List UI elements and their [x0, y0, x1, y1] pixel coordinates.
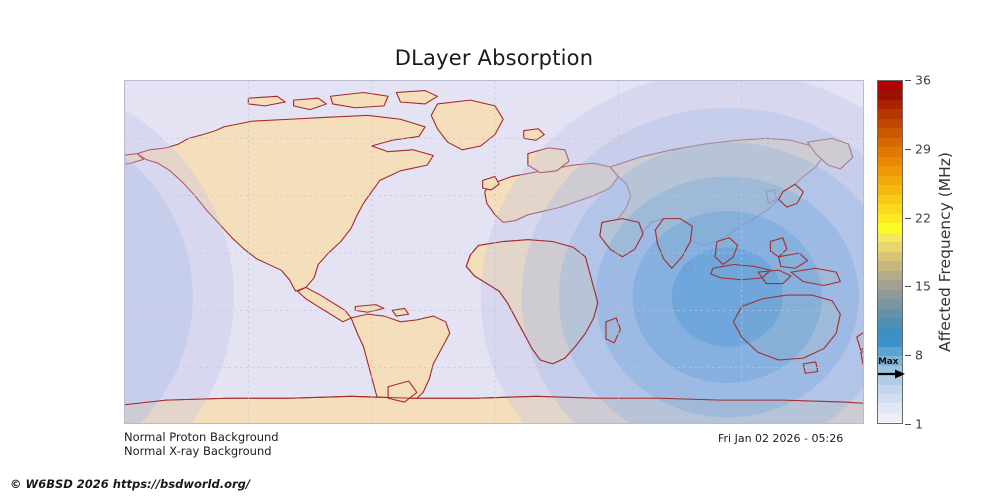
colorbar-band — [878, 214, 902, 223]
world-map-plot[interactable] — [124, 80, 864, 424]
colorbar-tick-label: 8 — [915, 348, 923, 363]
colorbar-band — [878, 119, 902, 128]
colorbar-band — [878, 233, 902, 242]
colorbar-tick-mark — [905, 218, 911, 219]
colorbar-band — [878, 166, 902, 175]
colorbar-band — [878, 176, 902, 185]
colorbar-tick-mark — [905, 424, 911, 425]
colorbar-band — [878, 290, 902, 299]
colorbar-band — [878, 261, 902, 270]
proton-background-note: Normal Proton Background — [124, 430, 279, 444]
colorbar-band — [878, 128, 902, 137]
colorbar-band — [878, 347, 902, 356]
colorbar-band — [878, 280, 902, 289]
colorbar-band — [878, 81, 902, 90]
colorbar-axis-label-text: Affected Frequency (MHz) — [936, 152, 954, 352]
colorbar-band — [878, 366, 902, 375]
copyright-notice: © W6BSD 2026 https://bsdworld.org/ — [10, 477, 250, 491]
colorbar-band — [878, 375, 902, 384]
colorbar-tick-label: 22 — [915, 210, 931, 225]
colorbar-band — [878, 328, 902, 337]
colorbar-band — [878, 185, 902, 194]
colorbar-band — [878, 337, 902, 346]
colorbar-band — [878, 413, 902, 422]
colorbar-tick-mark — [905, 80, 911, 81]
colorbar-band — [878, 138, 902, 147]
xray-background-note: Normal X-ray Background — [124, 444, 272, 458]
world-map-svg — [125, 81, 864, 424]
page-title: DLayer Absorption — [124, 46, 864, 70]
colorbar-tick-mark — [905, 286, 911, 287]
colorbar-band — [878, 90, 902, 99]
colorbar[interactable] — [877, 80, 903, 424]
colorbar-band — [878, 157, 902, 166]
colorbar-band — [878, 204, 902, 213]
figure-canvas: DLayer Absorption — [0, 0, 1000, 500]
colorbar-gradient — [878, 81, 902, 423]
colorbar-band — [878, 403, 902, 412]
colorbar-band — [878, 223, 902, 232]
colorbar-tick-label: 36 — [915, 73, 931, 88]
colorbar-band — [878, 147, 902, 156]
colorbar-band — [878, 252, 902, 261]
colorbar-axis-label: Affected Frequency (MHz) — [930, 80, 960, 424]
colorbar-tick-label: 15 — [915, 279, 931, 294]
colorbar-band — [878, 394, 902, 403]
colorbar-band — [878, 109, 902, 118]
colorbar-band — [878, 100, 902, 109]
timestamp-label: Fri Jan 02 2026 - 05:26 — [718, 432, 843, 445]
colorbar-tick-mark — [905, 149, 911, 150]
colorbar-band — [878, 271, 902, 280]
colorbar-band — [878, 195, 902, 204]
colorbar-band — [878, 356, 902, 365]
colorbar-band — [878, 299, 902, 308]
colorbar-tick-label: 1 — [915, 417, 923, 432]
colorbar-band — [878, 385, 902, 394]
colorbar-band — [878, 242, 902, 251]
colorbar-tick-mark — [905, 355, 911, 356]
colorbar-tick-label: 29 — [915, 141, 931, 156]
colorbar-band — [878, 309, 902, 318]
colorbar-band — [878, 318, 902, 327]
